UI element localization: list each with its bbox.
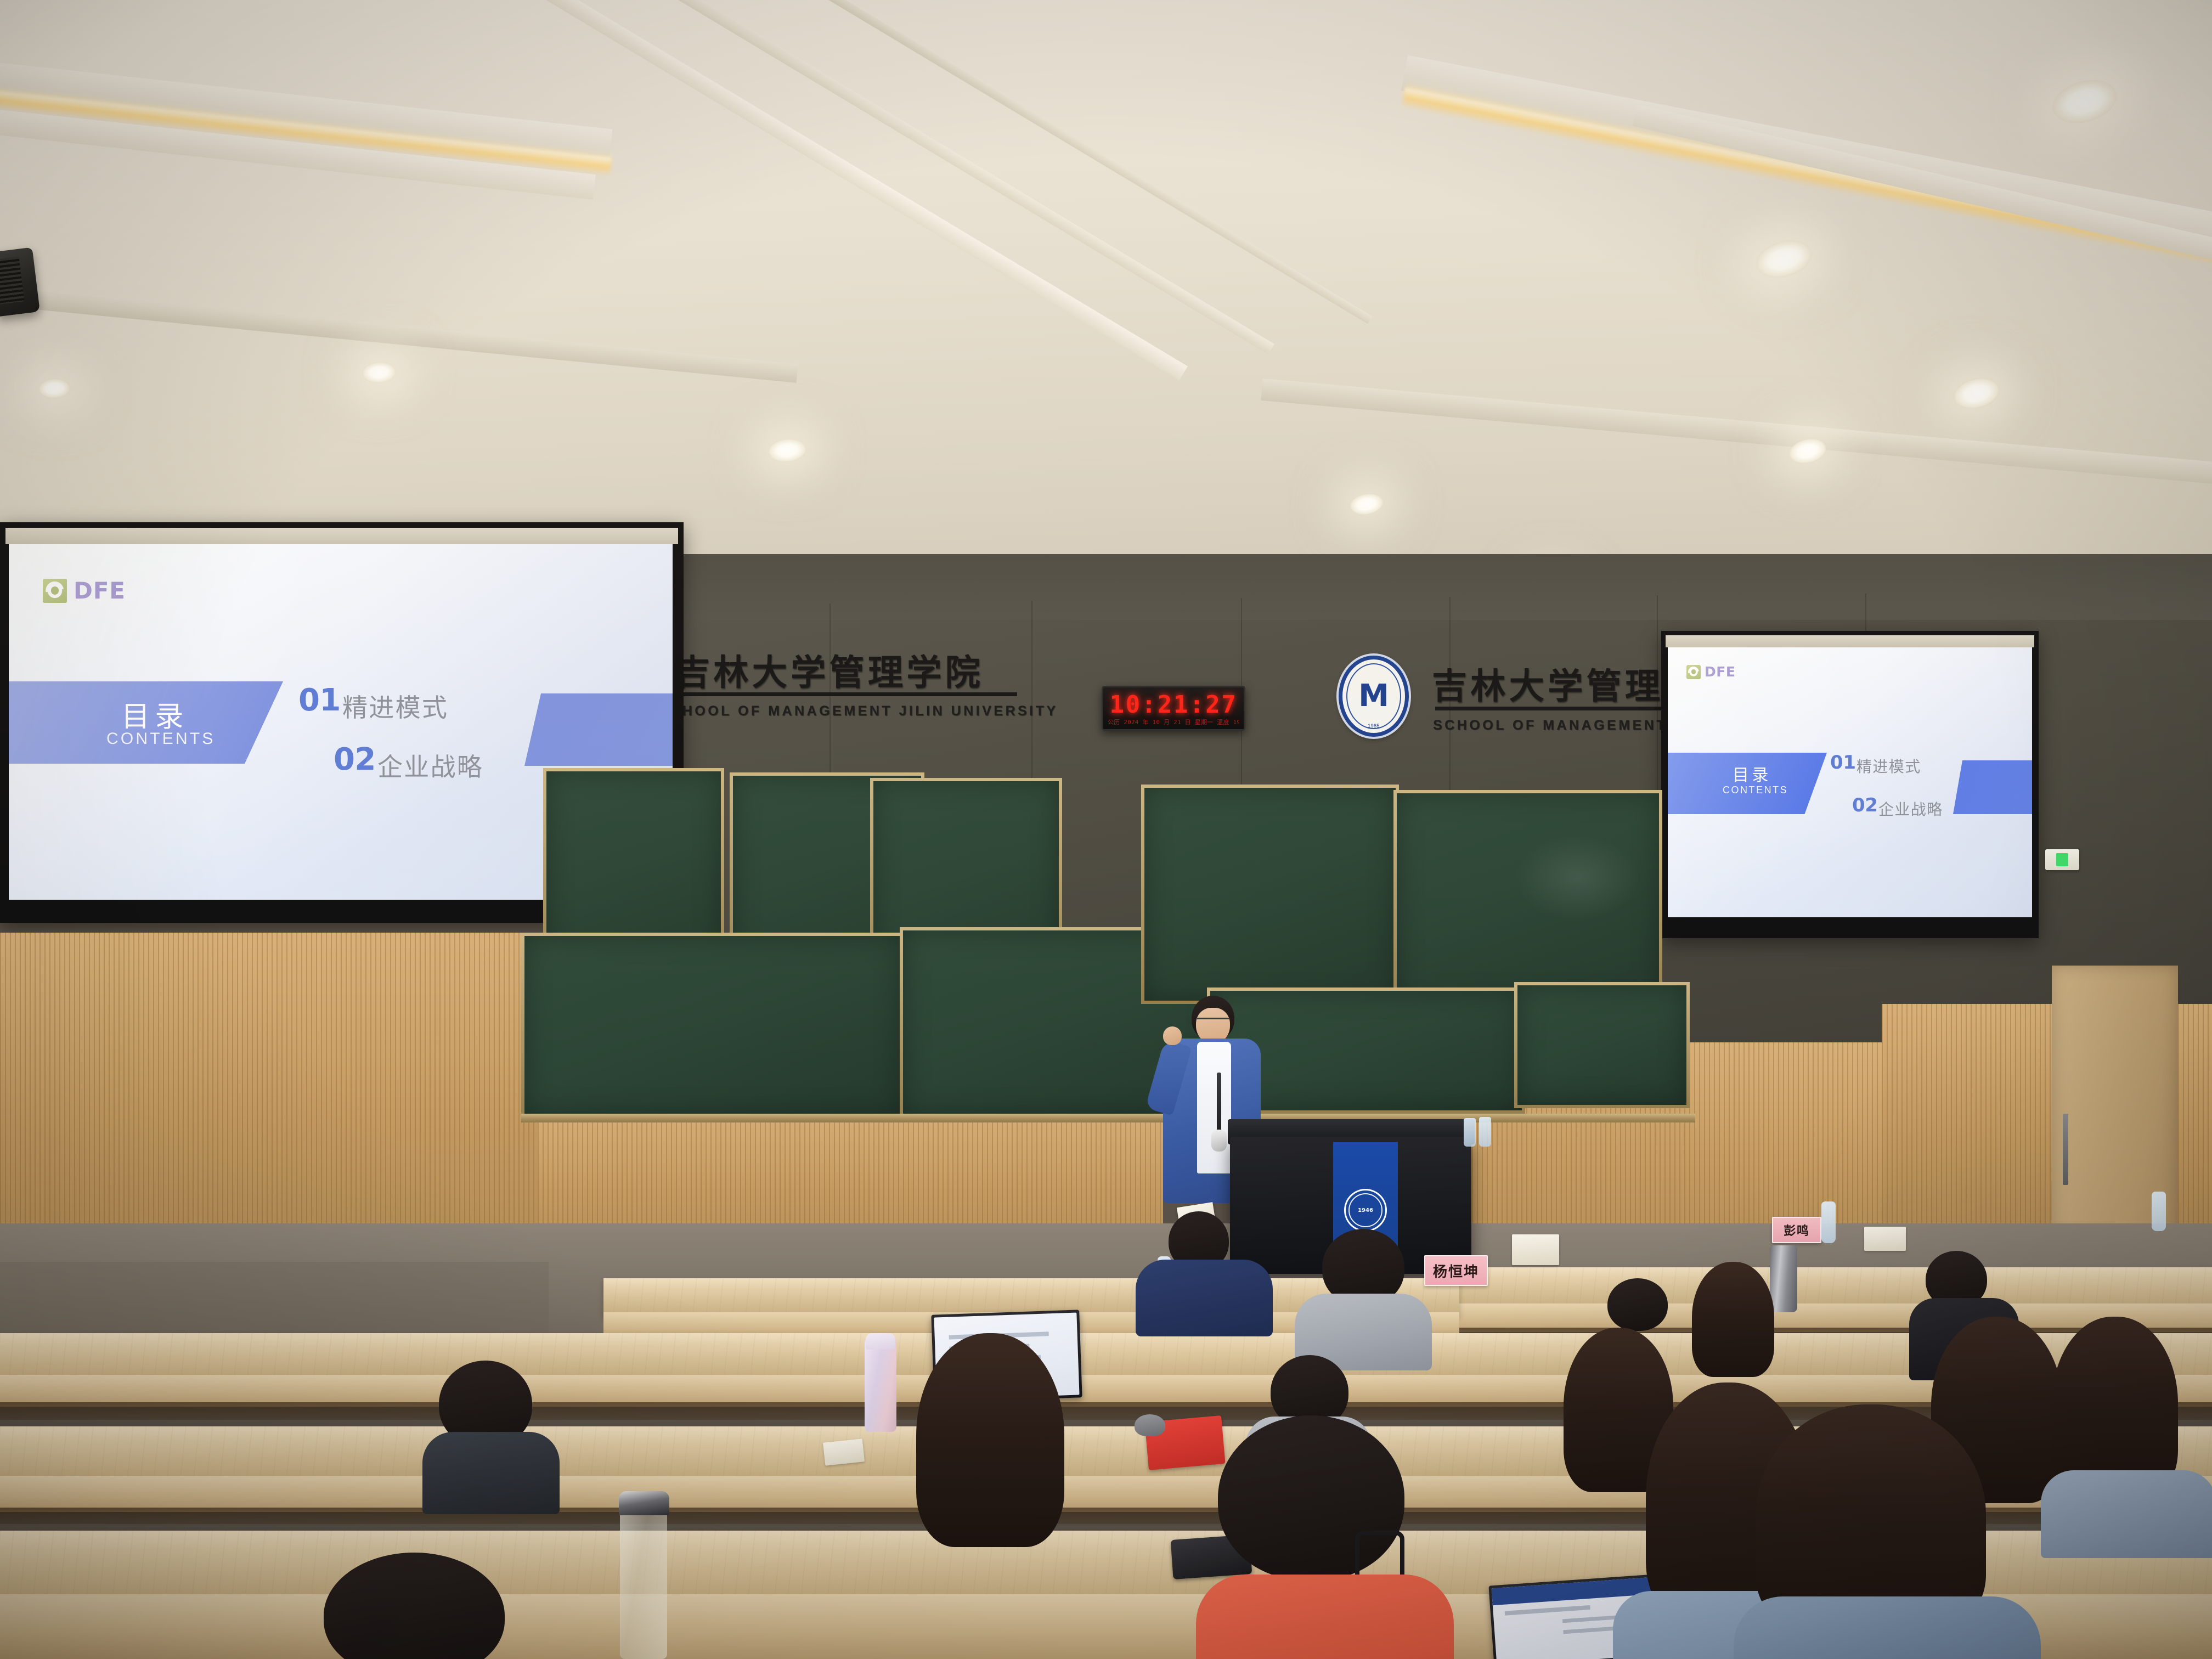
dfe-swirl-mark bbox=[1686, 665, 1701, 679]
toc-label-1-left: 企业战略 bbox=[377, 747, 483, 783]
dfe-swirl-mark bbox=[43, 579, 67, 603]
toc-number-1-right: 02 bbox=[1852, 794, 1878, 816]
placard-name-1: 杨恒坤 bbox=[1433, 1261, 1479, 1281]
toc-number-0-left: 01 bbox=[298, 682, 341, 718]
exit-running-man-icon bbox=[2056, 853, 2068, 866]
toc-label-0-right: 精进模式 bbox=[1857, 755, 1921, 777]
contents-title-en-right: CONTENTS bbox=[1723, 785, 1788, 796]
blackboard-bottom-rail bbox=[521, 1114, 1695, 1122]
glass-tumbler bbox=[620, 1504, 667, 1659]
tissue-box-2 bbox=[1864, 1227, 1906, 1251]
tissue-foreground bbox=[823, 1438, 865, 1465]
contents-title-cn-left: 目录 bbox=[121, 693, 189, 735]
audience-torso bbox=[1136, 1260, 1273, 1336]
right-screen-valance bbox=[1666, 635, 2034, 647]
audience-torso-foreground bbox=[1196, 1575, 1454, 1659]
slide-logo-right: DFE bbox=[1686, 664, 1735, 680]
placard-name-2: 彭鸣 bbox=[1784, 1221, 1810, 1239]
audience-member-t2-4 bbox=[2052, 1306, 2212, 1536]
audience-member-t3-1 bbox=[900, 1333, 1081, 1564]
ceiling bbox=[0, 0, 2212, 554]
jilin-university-seal: 1946 bbox=[1344, 1189, 1387, 1232]
desk-grain bbox=[1437, 1267, 2212, 1309]
wall-sign-rule-left bbox=[678, 692, 1017, 696]
tissue-box-1 bbox=[1512, 1234, 1559, 1265]
clock-date: 公历 2024 年 10 月 21 日 星期一 温度 19℃ bbox=[1108, 718, 1239, 726]
water-bottle-right-1 bbox=[1821, 1201, 1836, 1243]
blackboard-panel-9 bbox=[1514, 982, 1690, 1108]
computer-mouse[interactable] bbox=[1135, 1414, 1165, 1436]
audience-torso bbox=[2041, 1470, 2212, 1558]
audience-member-t3-2 bbox=[428, 1361, 554, 1503]
toc-label-0-left: 精进模式 bbox=[342, 688, 448, 724]
contents-accent-band-left bbox=[524, 693, 673, 766]
wall-sign-english-left: SCHOOL OF MANAGEMENT JILIN UNIVERSITY bbox=[658, 703, 1058, 719]
toc-label-1-right: 企业战略 bbox=[1878, 798, 1943, 820]
right-projection-screen[interactable]: DFE 目录 CONTENTS 01 精进模式 02 企业战略 bbox=[1668, 647, 2032, 917]
blackboard-panel-6 bbox=[1141, 785, 1399, 1004]
audience-head-foreground bbox=[324, 1553, 505, 1659]
laptop-toolbar-line bbox=[1504, 1605, 1590, 1615]
audience-hair bbox=[1692, 1262, 1774, 1377]
pink-thermos-cap bbox=[866, 1333, 895, 1350]
desk-row-back bbox=[1437, 1267, 2212, 1309]
audience-member-navy bbox=[1136, 1211, 1273, 1332]
speaker-hand bbox=[1163, 1026, 1182, 1045]
name-placard-1: 杨恒坤 bbox=[1424, 1255, 1488, 1286]
university-crest: M 1985 bbox=[1339, 656, 1409, 737]
desk-grain bbox=[0, 1333, 2212, 1380]
desk-row-2 bbox=[0, 1333, 2212, 1380]
pink-thermos-bottle bbox=[865, 1339, 896, 1432]
door-handle[interactable] bbox=[2063, 1114, 2068, 1185]
audience-torso-foreground bbox=[1734, 1596, 2041, 1659]
water-bottle-right-2 bbox=[2152, 1192, 2166, 1231]
wall-sign-chinese-left: 吉林大学管理学院 bbox=[675, 645, 984, 695]
clock-time: 10:21:27 bbox=[1103, 691, 1244, 719]
lecture-hall-photo: 吉林大学管理学院 SCHOOL OF MANAGEMENT JILIN UNIV… bbox=[0, 0, 2212, 1659]
contents-title-en-left: CONTENTS bbox=[106, 730, 216, 748]
audience-member-grey bbox=[1295, 1229, 1432, 1355]
podium-water-bottle bbox=[1464, 1118, 1476, 1147]
speaker-glasses bbox=[1197, 1018, 1229, 1023]
dfe-wordmark: DFE bbox=[1705, 664, 1735, 680]
blackboard-chalk-smudge bbox=[1514, 834, 1640, 922]
audience-member-right-2 bbox=[1679, 1262, 1788, 1399]
slide-logo-left: DFE bbox=[43, 577, 126, 604]
audience-member-fg-1 bbox=[1196, 1415, 1448, 1659]
seal-year: 1946 bbox=[1358, 1207, 1373, 1214]
microphone-head-icon bbox=[1211, 1130, 1227, 1152]
toc-number-1-left: 02 bbox=[334, 742, 376, 777]
audience-hair bbox=[916, 1333, 1064, 1547]
audience-head bbox=[1607, 1278, 1668, 1331]
back-wall-upper bbox=[647, 554, 2212, 620]
contents-title-cn-right: 目录 bbox=[1733, 761, 1771, 786]
name-placard-2: 彭鸣 bbox=[1772, 1217, 1821, 1243]
dfe-wordmark: DFE bbox=[74, 577, 126, 604]
glass-tumbler-cap bbox=[619, 1491, 669, 1515]
audience-torso bbox=[422, 1432, 560, 1514]
crest-year: 1985 bbox=[1342, 723, 1405, 729]
audience-member-fg-3 bbox=[1745, 1404, 2030, 1659]
contents-accent-band-right bbox=[1953, 760, 2032, 814]
emergency-exit-sign bbox=[2045, 849, 2079, 870]
wall-wood-paneling-left bbox=[0, 933, 549, 1273]
crest-ring bbox=[1346, 663, 1401, 729]
toc-number-0-right: 01 bbox=[1830, 752, 1856, 774]
speaker-shirt bbox=[1197, 1042, 1231, 1173]
audience-member-fg-2 bbox=[307, 1553, 527, 1659]
blackboard-panel-4 bbox=[521, 933, 905, 1119]
digital-wall-clock: 10:21:27 公历 2024 年 10 月 21 日 星期一 温度 19℃ bbox=[1102, 686, 1245, 731]
left-screen-valance bbox=[5, 528, 678, 544]
podium-water-bottle-2 bbox=[1479, 1117, 1491, 1147]
